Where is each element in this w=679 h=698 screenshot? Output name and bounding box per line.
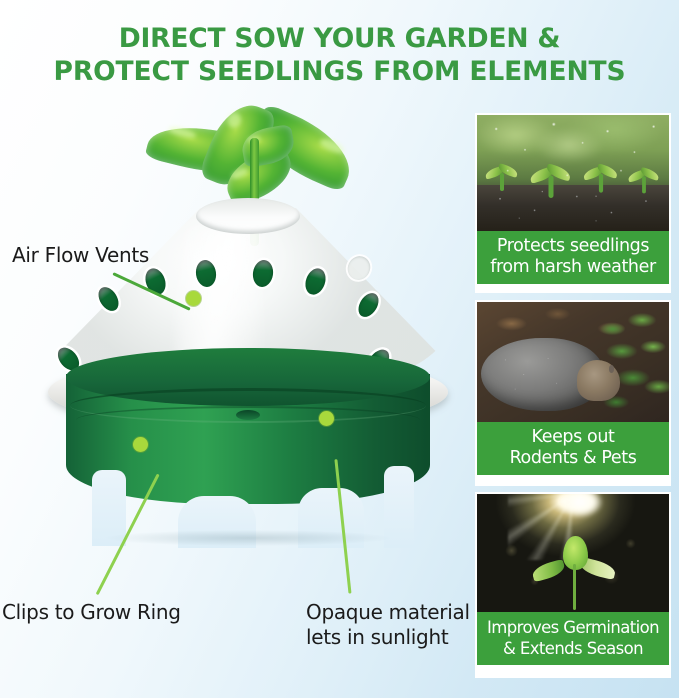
callout-label-clips-to-grow-ring: Clips to Grow Ring (2, 600, 181, 625)
benefit-panel-protects-seedlings: Protects seedlings from harsh weather (475, 113, 671, 293)
headline-line-2: PROTECT SEEDLINGS FROM ELEMENTS (0, 55, 679, 88)
seedling-icon (546, 536, 604, 609)
seedlings-in-rain-photo (477, 115, 669, 231)
squirrel-head (577, 360, 620, 401)
callout-dot-clips (133, 437, 148, 452)
panel-caption-line-2: & Extends Season (479, 638, 667, 659)
panel-caption-line-2: Rodents & Pets (479, 448, 667, 469)
callout-dot-vents (186, 291, 201, 306)
benefit-panel-keeps-out-rodents: Keeps out Rodents & Pets (475, 300, 671, 486)
panel-caption-line-1: Keeps out (479, 427, 667, 448)
squirrel-in-garden-photo (477, 302, 669, 422)
panel-caption-line-1: Protects seedlings (479, 236, 667, 257)
infographic-page: DIRECT SOW YOUR GARDEN & PROTECT SEEDLIN… (0, 0, 679, 698)
raindrops-overlay (477, 115, 669, 231)
base-clip (236, 410, 260, 420)
headline-line-1: DIRECT SOW YOUR GARDEN & (0, 22, 679, 55)
panel-caption-line-2: from harsh weather (479, 257, 667, 278)
grow-ring-base (66, 348, 430, 548)
product-illustration (28, 100, 468, 600)
callout-label-opaque-material: Opaque material lets in sunlight (306, 600, 470, 650)
panel-caption-line-1: Improves Germination (479, 617, 667, 638)
benefit-panel-improves-germination: Improves Germination & Extends Season (475, 492, 671, 678)
base-shadow (106, 530, 390, 546)
callout-dot-opaque (319, 411, 334, 426)
squirrel-ear (609, 365, 615, 372)
callout-label-opaque-line-2: lets in sunlight (306, 625, 470, 650)
squirrel-icon (481, 326, 623, 415)
dome-top-collar (196, 198, 300, 234)
callout-label-opaque-line-1: Opaque material (306, 600, 470, 625)
panel-caption: Improves Germination & Extends Season (477, 612, 669, 665)
seedling-sunburst-photo (477, 494, 669, 612)
panel-caption: Keeps out Rodents & Pets (477, 422, 669, 475)
headline: DIRECT SOW YOUR GARDEN & PROTECT SEEDLIN… (0, 22, 679, 88)
panel-caption: Protects seedlings from harsh weather (477, 231, 669, 284)
callout-label-air-flow-vents: Air Flow Vents (12, 243, 149, 268)
seedling-stem (573, 564, 576, 609)
base-leg-gap (384, 466, 414, 548)
